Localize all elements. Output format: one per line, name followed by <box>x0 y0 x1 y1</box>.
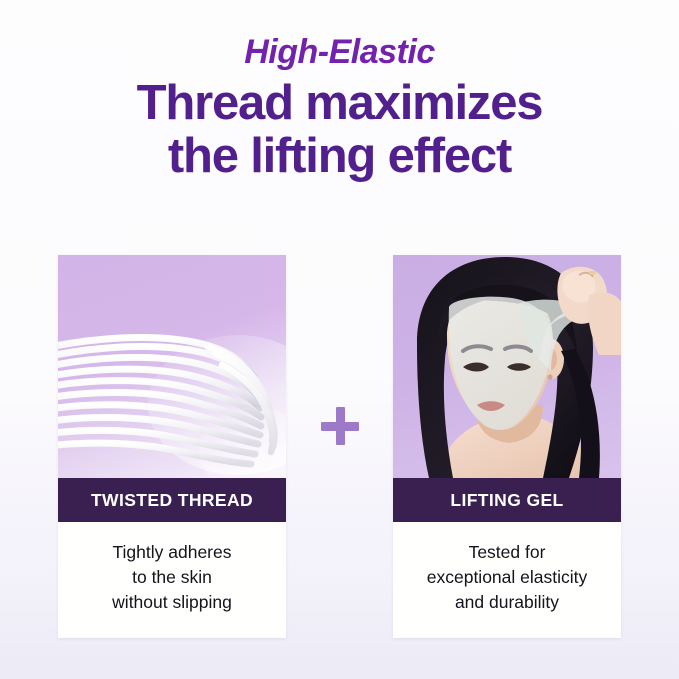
card-caption-lifting-gel: Tested for exceptional elasticity and du… <box>393 522 621 638</box>
lifting-gel-image <box>393 255 621 478</box>
card-twisted-thread: TWISTED THREAD Tightly adheres to the sk… <box>58 255 286 638</box>
caption-line: exceptional elasticity <box>427 565 588 590</box>
model-mask-illustration <box>393 255 621 478</box>
eyebrow-text: High-Elastic <box>0 34 679 71</box>
caption-line: without slipping <box>112 590 232 615</box>
plus-icon <box>320 406 360 446</box>
twisted-thread-image <box>58 255 286 478</box>
card-label-twisted-thread: TWISTED THREAD <box>58 478 286 522</box>
caption-line: Tested for <box>427 540 588 565</box>
caption-line: and durability <box>427 590 588 615</box>
card-lifting-gel: LIFTING GEL Tested for exceptional elast… <box>393 255 621 638</box>
headline-block: High-Elastic Thread maximizes the liftin… <box>0 34 679 183</box>
plus-separator <box>310 396 370 456</box>
headline-line-2: the lifting effect <box>0 130 679 183</box>
headline-line-1: Thread maximizes <box>0 77 679 130</box>
caption-line: to the skin <box>112 565 232 590</box>
caption-line: Tightly adheres <box>112 540 232 565</box>
card-caption-twisted-thread: Tightly adheres to the skin without slip… <box>58 522 286 638</box>
page-title: Thread maximizes the lifting effect <box>0 77 679 183</box>
card-label-lifting-gel: LIFTING GEL <box>393 478 621 522</box>
twisted-thread-illustration <box>58 255 286 478</box>
